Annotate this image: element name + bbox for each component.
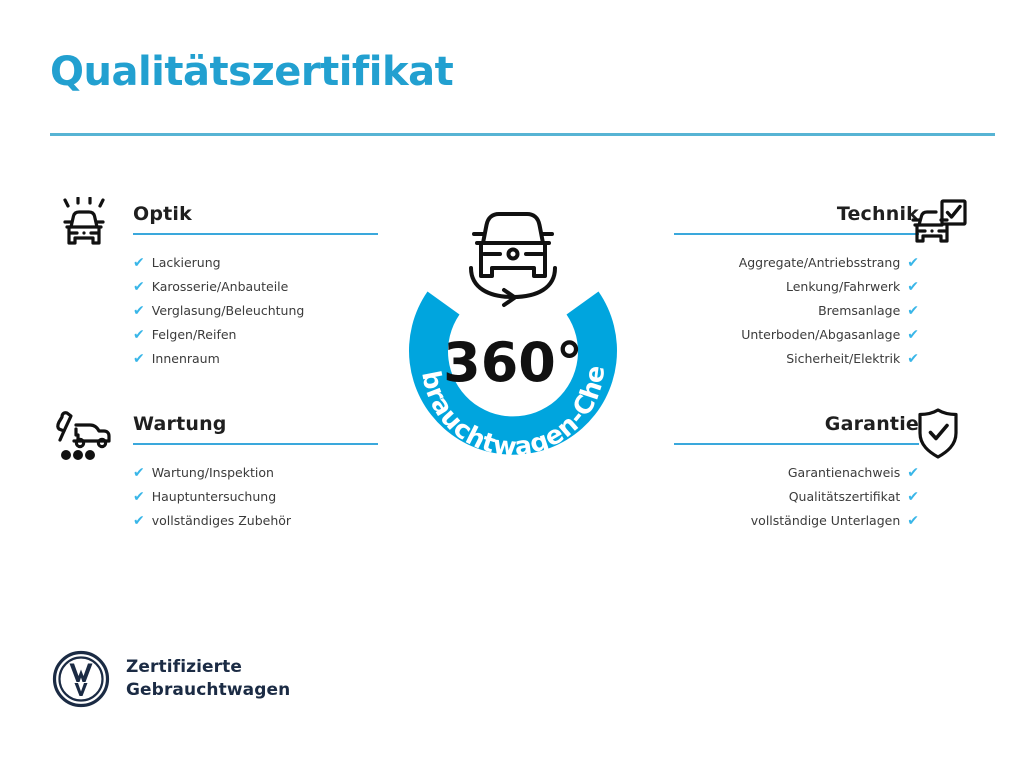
check-icon: ✔ <box>907 304 919 318</box>
list-item: ✔Garantienachweis <box>674 461 919 485</box>
section-heading: Optik <box>133 205 378 233</box>
checklist-technik: ✔Aggregate/Antriebsstrang ✔Lenkung/Fahrw… <box>674 251 919 371</box>
list-item: ✔Bremsanlage <box>674 299 919 323</box>
car-front-shine-icon <box>54 197 118 253</box>
list-item: ✔vollständige Unterlagen <box>674 509 919 533</box>
checklist-garantie: ✔Garantienachweis ✔Qualitätszertifikat ✔… <box>674 461 919 533</box>
list-item-label: Felgen/Reifen <box>152 323 237 347</box>
check-icon: ✔ <box>133 328 145 342</box>
check-icon: ✔ <box>907 466 919 480</box>
check-icon: ✔ <box>907 490 919 504</box>
list-item-label: Lackierung <box>152 251 221 275</box>
footer-line-2: Gebrauchtwagen <box>126 679 290 702</box>
footer-line-1: Zertifizierte <box>126 656 290 679</box>
car-front-rotate-icon <box>471 214 555 305</box>
list-item-label: Karosserie/Anbauteile <box>152 275 289 299</box>
shield-check-icon <box>906 407 970 463</box>
check-icon: ✔ <box>133 514 145 528</box>
check-icon: ✔ <box>907 328 919 342</box>
check-icon: ✔ <box>133 466 145 480</box>
list-item-label: Garantienachweis <box>788 461 900 485</box>
list-item: ✔Hauptuntersuchung <box>133 485 378 509</box>
section-optik: Optik ✔Lackierung ✔Karosserie/Anbauteile… <box>50 205 350 371</box>
list-item: ✔Unterboden/Abgasanlage <box>674 323 919 347</box>
check-icon: ✔ <box>907 352 919 366</box>
list-item: ✔Lackierung <box>133 251 378 275</box>
check-icon: ✔ <box>907 256 919 270</box>
list-item: ✔Qualitätszertifikat <box>674 485 919 509</box>
check-icon: ✔ <box>907 280 919 294</box>
list-item: ✔Lenkung/Fahrwerk <box>674 275 919 299</box>
volkswagen-footer: Zertifizierte Gebrauchtwagen <box>52 650 290 708</box>
car-front-checkbox-icon <box>906 197 970 253</box>
check-icon: ✔ <box>133 280 145 294</box>
list-item-label: Lenkung/Fahrwerk <box>786 275 900 299</box>
badge-360-gebrauchtwagen-check: Gebrauchtwagen-Check 360° <box>378 196 648 496</box>
section-wartung: Wartung ✔Wartung/Inspektion ✔Hauptunters… <box>50 415 350 533</box>
list-item: ✔Verglasung/Beleuchtung <box>133 299 378 323</box>
list-item-label: vollständige Unterlagen <box>751 509 900 533</box>
list-item-label: Bremsanlage <box>818 299 900 323</box>
list-item: ✔Karosserie/Anbauteile <box>133 275 378 299</box>
check-icon: ✔ <box>133 352 145 366</box>
check-icon: ✔ <box>133 304 145 318</box>
check-icon: ✔ <box>907 514 919 528</box>
list-item: ✔Innenraum <box>133 347 378 371</box>
list-item: ✔Aggregate/Antriebsstrang <box>674 251 919 275</box>
volkswagen-footer-text: Zertifizierte Gebrauchtwagen <box>126 656 290 702</box>
list-item-label: Hauptuntersuchung <box>152 485 276 509</box>
section-heading: Wartung <box>133 415 378 443</box>
list-item-label: Verglasung/Beleuchtung <box>152 299 305 323</box>
section-heading: Technik <box>674 205 919 233</box>
section-underline <box>133 233 378 235</box>
section-underline <box>133 443 378 445</box>
section-heading: Garantie <box>674 415 919 443</box>
section-technik: Technik ✔Aggregate/Antriebsstrang ✔Lenku… <box>674 205 974 371</box>
check-icon: ✔ <box>133 490 145 504</box>
badge-center-label: 360° <box>443 331 583 394</box>
checklist-wartung: ✔Wartung/Inspektion ✔Hauptuntersuchung ✔… <box>133 461 378 533</box>
list-item-label: Aggregate/Antriebsstrang <box>739 251 901 275</box>
section-underline <box>674 443 919 445</box>
header-divider <box>50 133 995 136</box>
list-item: ✔Wartung/Inspektion <box>133 461 378 485</box>
volkswagen-logo <box>52 650 110 708</box>
list-item-label: vollständiges Zubehör <box>152 509 291 533</box>
list-item-label: Wartung/Inspektion <box>152 461 274 485</box>
certificate-page: Qualitätszertifikat Optik ✔Lackierung <box>0 0 1024 768</box>
list-item: ✔Felgen/Reifen <box>133 323 378 347</box>
section-garantie: Garantie ✔Garantienachweis ✔Qualitätszer… <box>674 415 974 533</box>
page-title: Qualitätszertifikat <box>50 50 453 94</box>
wrench-car-service-icon <box>54 407 118 463</box>
list-item-label: Qualitätszertifikat <box>789 485 901 509</box>
list-item-label: Innenraum <box>152 347 220 371</box>
check-icon: ✔ <box>133 256 145 270</box>
list-item: ✔vollständiges Zubehör <box>133 509 378 533</box>
list-item-label: Sicherheit/Elektrik <box>786 347 900 371</box>
checklist-optik: ✔Lackierung ✔Karosserie/Anbauteile ✔Verg… <box>133 251 378 371</box>
list-item-label: Unterboden/Abgasanlage <box>741 323 900 347</box>
list-item: ✔Sicherheit/Elektrik <box>674 347 919 371</box>
section-underline <box>674 233 919 235</box>
